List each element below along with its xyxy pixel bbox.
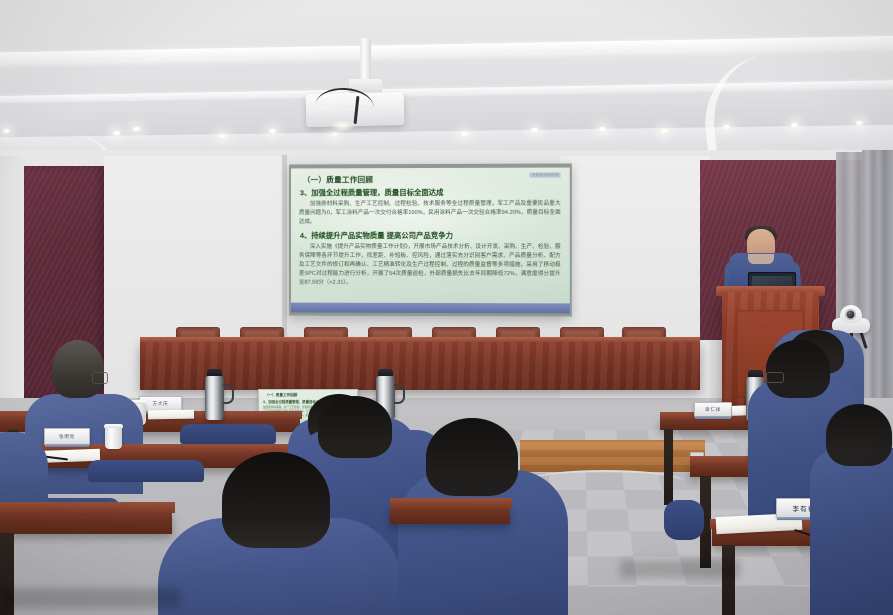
presentation-slide: 中铝郑州研究院 （一）质量工作回顾 3、加强全过程质量管理，质量目标全面达成 加…: [299, 172, 563, 304]
downlight: [790, 122, 799, 128]
audience-person-hair: [52, 340, 104, 398]
audience-person-hair: [318, 396, 392, 458]
projection-screen-surface: 中铝郑州研究院 （一）质量工作回顾 3、加强全过程质量管理，质量目标全面达成 加…: [291, 168, 570, 304]
downlight: [2, 128, 11, 134]
mug: [105, 428, 122, 449]
floor-shadow: [0, 588, 180, 608]
nameplate-text: 方大庆: [153, 401, 169, 407]
audience-person-hair: [766, 340, 830, 398]
meeting-room-photo: 中铝郑州研究院 （一）质量工作回顾 3、加强全过程质量管理，质量目标全面达成 加…: [0, 0, 893, 615]
downlight: [530, 127, 539, 133]
chair-blue: [88, 460, 204, 482]
wood-skirting-panel: [520, 440, 705, 472]
nameplate: 单仁祥: [694, 402, 732, 417]
downlight: [722, 124, 731, 130]
downlight: [460, 131, 469, 137]
nameplate: 张明亮: [44, 428, 90, 445]
downlight: [132, 126, 141, 132]
downlight: [598, 126, 607, 132]
notebook: [148, 410, 194, 420]
floor-shadow: [620, 560, 740, 578]
slide-title: （一）质量工作回顾: [303, 174, 563, 186]
desk-top-front-row-right: [390, 498, 512, 507]
slide-heading-2: 4、持续提升产品实物质量 提高公司产品竞争力: [300, 230, 563, 241]
screen-bottom-bar: [291, 303, 570, 314]
desk-front-row: [0, 512, 172, 534]
downlight: [112, 130, 121, 136]
wood-grain: [140, 342, 700, 390]
camera-lens-icon: [845, 309, 856, 320]
desk-top-front-row: [0, 502, 175, 513]
downlight: [268, 128, 277, 134]
projector-beam-glow: [330, 120, 356, 132]
ceiling: [0, 0, 893, 168]
projection-screen: 中铝郑州研究院 （一）质量工作回顾 3、加强全过程质量管理，质量目标全面达成 加…: [289, 163, 572, 316]
thermos-handle: [223, 384, 234, 404]
slide-watermark: 中铝郑州研究院: [530, 173, 561, 178]
chair-blue: [180, 424, 276, 444]
thermos: [205, 376, 224, 420]
nameplate-text: 张明亮: [59, 434, 75, 440]
desk-leg-right-front: [722, 545, 735, 615]
nameplate-text: 单仁祥: [705, 407, 721, 413]
chair-blue: [664, 500, 704, 540]
desk-front-row-right: [390, 506, 510, 524]
downlight: [855, 120, 864, 126]
speaker-collar: [748, 254, 774, 264]
audience-person-hair: [826, 404, 892, 466]
audience-person-hair-foreground: [222, 452, 330, 548]
slide-heading-1: 3、加强全过程质量管理，质量目标全面达成: [300, 187, 563, 199]
dais-front-panel: [140, 342, 700, 390]
projector-mount-rod: [360, 38, 371, 84]
downlight: [660, 128, 669, 134]
slide-paragraph-2: 深入实施《提升产品实物质量工作计划》，开展市场产品技术分析、设计开发、采购、生产…: [299, 243, 561, 289]
downlight: [218, 133, 227, 139]
eyeglasses-icon: [92, 372, 108, 384]
slide-paragraph-1: 加强原材料采购、生产工艺控制、过程检验、技术服务等全过程质量管理，军工产品及重要…: [299, 200, 561, 228]
desk-leg-right-back: [664, 429, 673, 505]
audience-person-body: [810, 448, 893, 615]
thermos-handle: [394, 384, 405, 404]
eyeglasses-icon: [766, 372, 784, 383]
audience-person-hair-foreground: [426, 418, 518, 496]
